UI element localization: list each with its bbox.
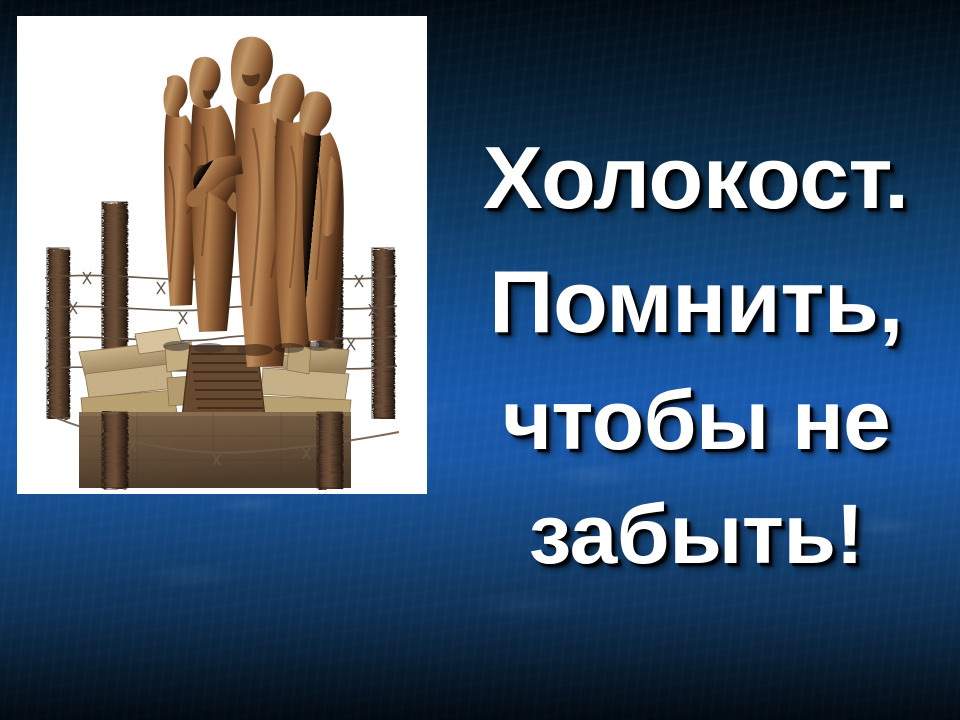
slide-canvas: Холокост. Помнить, чтобы не забыть! [0,0,960,720]
memorial-photo-illustration [17,16,427,494]
headline-line-1: Холокост. [483,134,909,222]
headline-line-3: чтобы не [502,378,890,462]
headline-block: Холокост. Помнить, чтобы не забыть! [432,134,960,694]
memorial-photo [17,16,427,494]
headline-line-2: Помнить, [489,258,903,346]
headline-line-4: забыть! [529,492,864,576]
